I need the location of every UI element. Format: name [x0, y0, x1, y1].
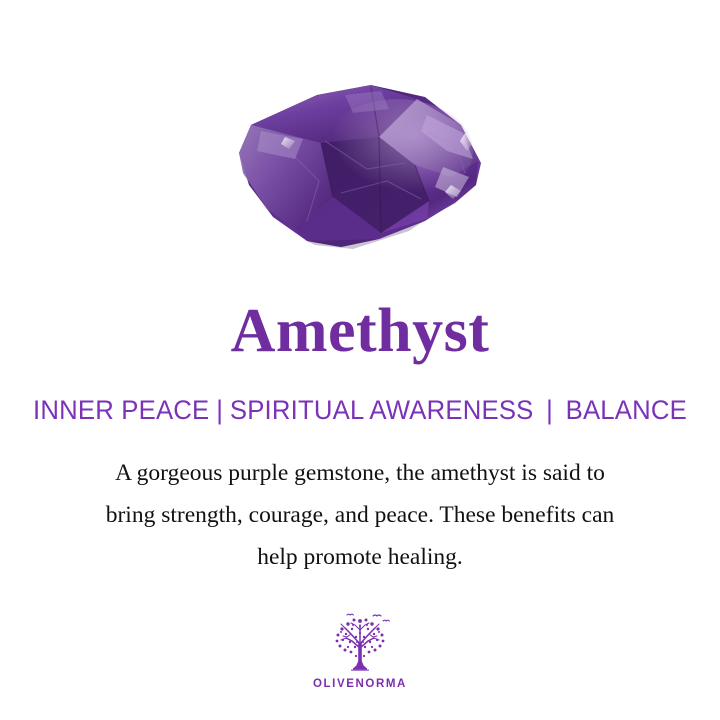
- description-text: A gorgeous purple gemstone, the amethyst…: [60, 452, 660, 578]
- page-title: Amethyst: [0, 296, 720, 366]
- description-line: A gorgeous purple gemstone, the amethyst…: [60, 452, 660, 494]
- brand-name: OLIVENORMA: [313, 678, 407, 690]
- keyword-spiritual-awareness: SPIRITUAL AWARENESS: [230, 395, 534, 425]
- keyword-tagline: INNER PEACE|SPIRITUAL AWARENESS|BALANCE: [11, 393, 709, 427]
- brand-logo: OLIVENORMA: [0, 612, 720, 690]
- keyword-inner-peace: INNER PEACE: [33, 395, 209, 425]
- description-line: bring strength, courage, and peace. Thes…: [60, 494, 660, 536]
- keyword-separator-1: |: [209, 393, 229, 427]
- amethyst-crystal-icon: [229, 81, 491, 259]
- keyword-balance: BALANCE: [566, 395, 687, 425]
- keyword-separator-2: |: [534, 393, 566, 427]
- tree-logo-icon: [327, 612, 393, 674]
- description-line: help promote healing.: [60, 536, 660, 578]
- product-info-card: Amethyst INNER PEACE|SPIRITUAL AWARENESS…: [0, 0, 720, 720]
- amethyst-crystal-image: [229, 81, 491, 259]
- hero-image-area: [0, 70, 720, 270]
